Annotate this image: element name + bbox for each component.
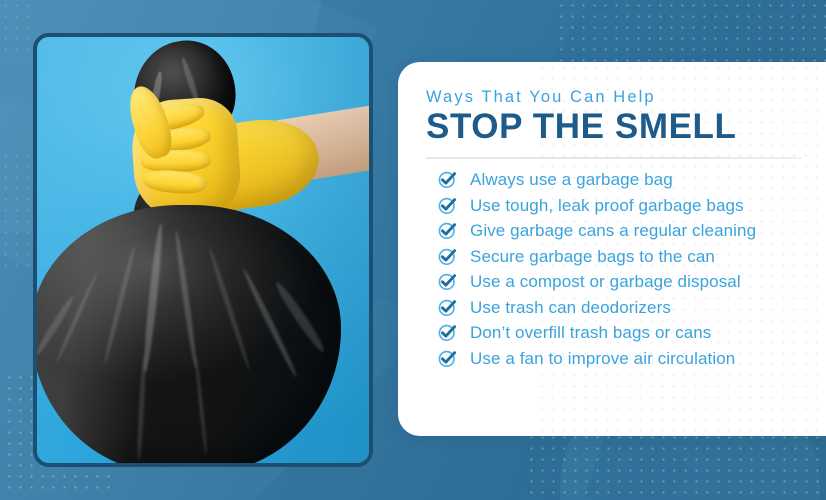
check-circle-icon — [438, 349, 457, 368]
title-divider — [426, 157, 802, 159]
tips-list: Always use a garbage bag Use tough, leak… — [426, 170, 806, 368]
list-item-label: Give garbage cans a regular cleaning — [470, 222, 756, 239]
list-item: Don’t overfill trash bags or cans — [438, 323, 806, 342]
content-card: Ways That You Can Help STOP THE SMELL Al… — [398, 62, 826, 436]
list-item-label: Always use a garbage bag — [470, 171, 673, 188]
infographic-canvas: Ways That You Can Help STOP THE SMELL Al… — [0, 0, 826, 500]
check-circle-icon — [438, 170, 457, 189]
check-circle-icon — [438, 323, 457, 342]
photo-panel — [33, 33, 373, 467]
list-item: Use a fan to improve air circulation — [438, 349, 806, 368]
list-item-label: Secure garbage bags to the can — [470, 248, 715, 265]
list-item: Use tough, leak proof garbage bags — [438, 196, 806, 215]
check-circle-icon — [438, 272, 457, 291]
list-item-label: Use tough, leak proof garbage bags — [470, 197, 744, 214]
photo-image — [37, 37, 369, 463]
list-item: Use a compost or garbage disposal — [438, 272, 806, 291]
list-item: Give garbage cans a regular cleaning — [438, 221, 806, 240]
list-item-label: Don’t overfill trash bags or cans — [470, 324, 711, 341]
check-circle-icon — [438, 196, 457, 215]
photo-vignette — [37, 37, 369, 463]
eyebrow-text: Ways That You Can Help — [426, 88, 806, 107]
list-item-label: Use a fan to improve air circulation — [470, 350, 735, 367]
list-item-label: Use a compost or garbage disposal — [470, 273, 741, 290]
list-item: Secure garbage bags to the can — [438, 247, 806, 266]
list-item: Always use a garbage bag — [438, 170, 806, 189]
list-item-label: Use trash can deodorizers — [470, 299, 671, 316]
card-body: Ways That You Can Help STOP THE SMELL Al… — [398, 62, 826, 368]
check-circle-icon — [438, 221, 457, 240]
check-circle-icon — [438, 298, 457, 317]
page-title: STOP THE SMELL — [426, 108, 806, 145]
dot-pattern-top-left — [0, 0, 30, 60]
list-item: Use trash can deodorizers — [438, 298, 806, 317]
check-circle-icon — [438, 247, 457, 266]
